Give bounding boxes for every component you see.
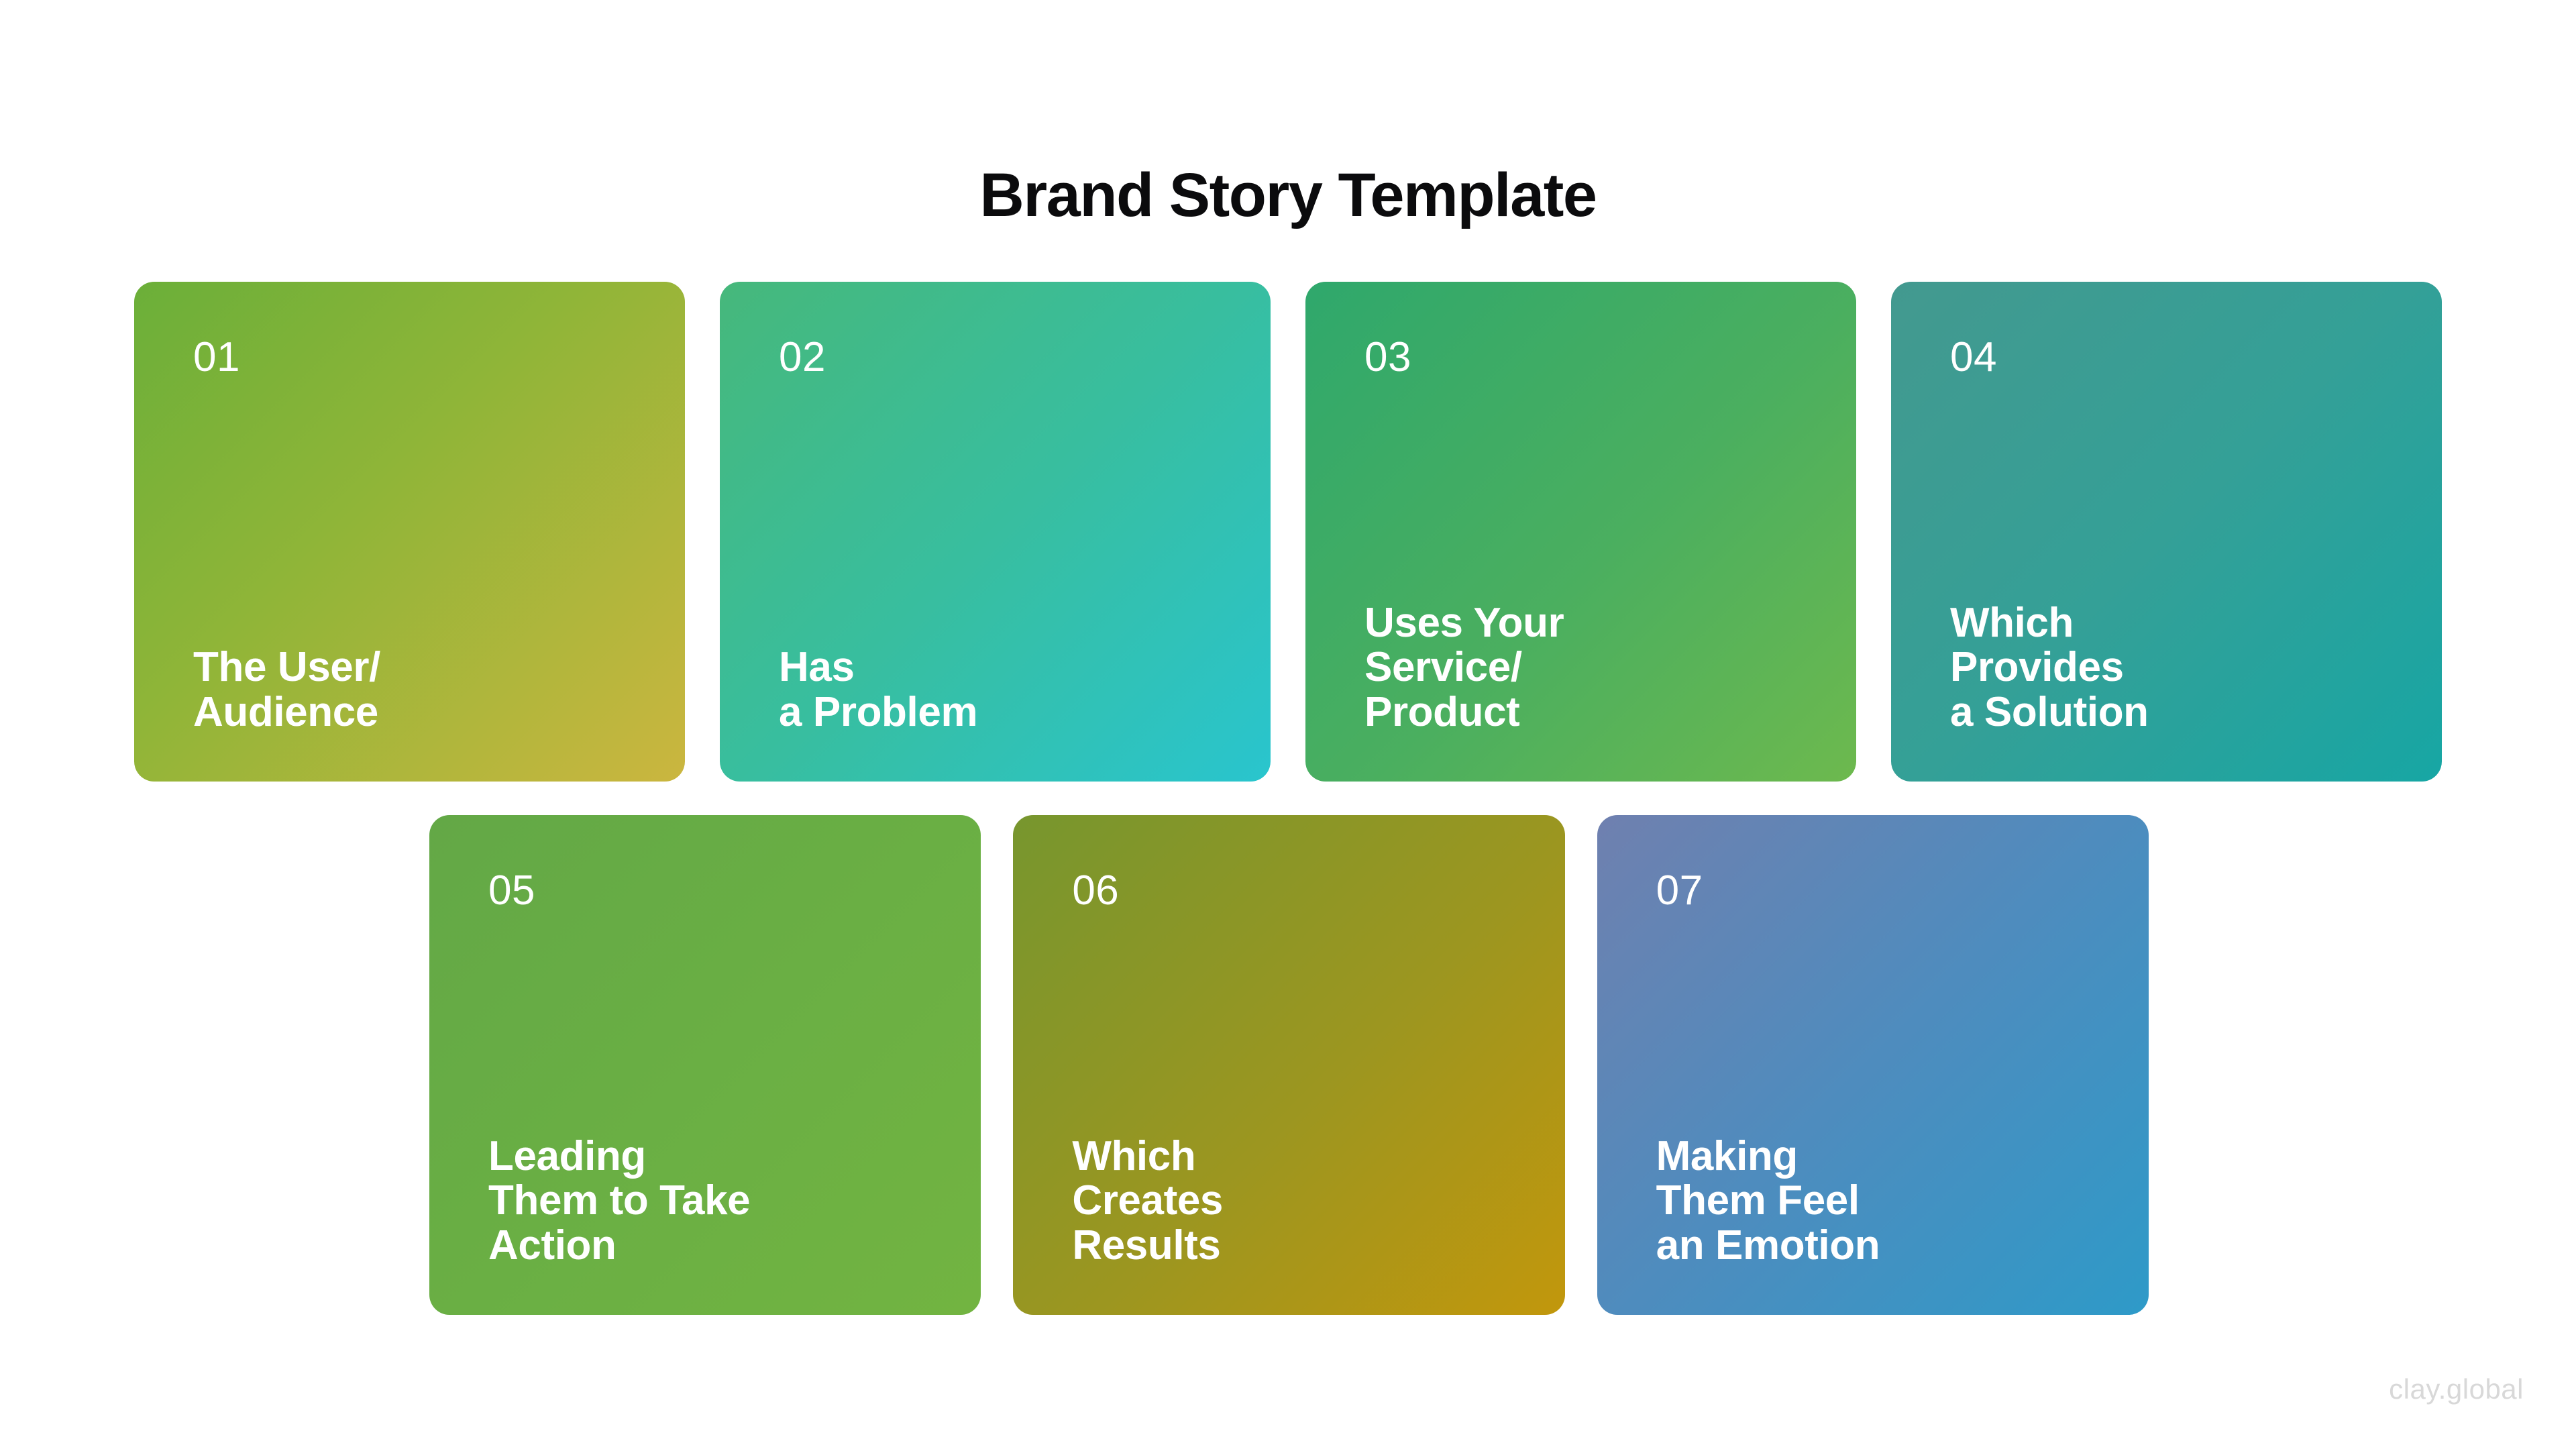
card-label: Which Provides a Solution [1950,601,2395,735]
card-number: 06 [1072,870,1517,912]
card-label: Has a Problem [779,645,1224,735]
card-row-bottom: 05 Leading Them to Take Action 06 Which … [429,815,2149,1315]
story-card-02[interactable]: 02 Has a Problem [720,282,1271,782]
card-number: 02 [779,337,1224,378]
card-number: 05 [488,870,934,912]
story-card-06[interactable]: 06 Which Creates Results [1013,815,1564,1315]
card-label: The User/ Audience [193,645,638,735]
card-number: 04 [1950,337,2395,378]
card-number: 07 [1656,870,2102,912]
page-title: Brand Story Template [0,164,2576,226]
card-label: Which Creates Results [1072,1134,1517,1268]
card-row-top: 01 The User/ Audience 02 Has a Problem 0… [134,282,2442,782]
card-number: 01 [193,337,638,378]
story-card-04[interactable]: 04 Which Provides a Solution [1891,282,2442,782]
story-card-01[interactable]: 01 The User/ Audience [134,282,685,782]
story-card-03[interactable]: 03 Uses Your Service/ Product [1305,282,1856,782]
watermark-clay-global: clay.global [2389,1375,2524,1403]
card-label: Making Them Feel an Emotion [1656,1134,2102,1268]
brand-story-template-slide: Brand Story Template 01 The User/ Audien… [0,0,2576,1449]
story-card-05[interactable]: 05 Leading Them to Take Action [429,815,981,1315]
story-card-07[interactable]: 07 Making Them Feel an Emotion [1597,815,2149,1315]
card-label: Uses Your Service/ Product [1364,601,1809,735]
card-label: Leading Them to Take Action [488,1134,934,1268]
card-number: 03 [1364,337,1809,378]
